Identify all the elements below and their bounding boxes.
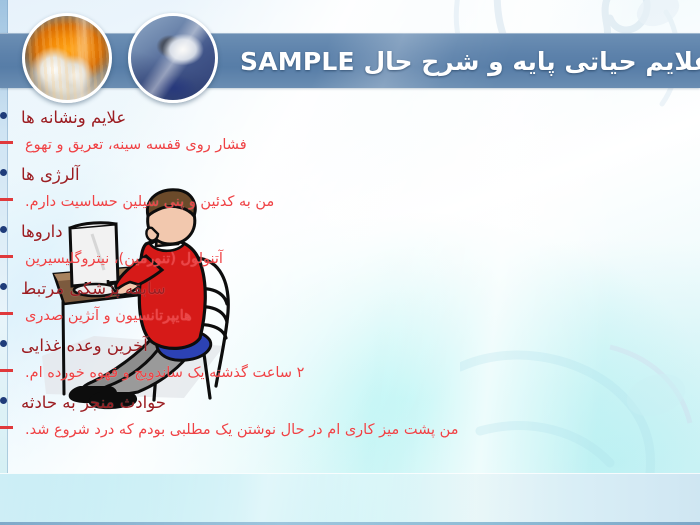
sub-bullet-label: من پشت میز کاری ام در حال نوشتن یک مطلبی… (25, 422, 459, 439)
bullet-dot-icon (0, 397, 7, 404)
page-title: علایم حیاتی پایه و شرح حال SAMPLE (240, 36, 682, 86)
bullet-label: آخرین وعده غذایی (21, 336, 148, 355)
sub-bullet-label: فشار روی قفسه سینه، تعریق و تهوع (25, 137, 247, 154)
list-item: آخرین وعده غذایی (0, 336, 692, 365)
bullet-group: آلرژی ها من به کدئین و پنی سیلین حساسیت … (0, 165, 692, 221)
list-item: سابقه پزشکی مرتبط (0, 279, 692, 308)
sub-list-item: ۲ ساعت گذشته یک ساندویچ و قهوه خورده ام. (0, 365, 692, 392)
dash-icon (0, 369, 13, 372)
bullet-label: داروها (21, 222, 63, 241)
sub-list-item: آتنولول (تنورمین)، نیتروگلیسیرین (0, 251, 692, 278)
sub-list-item: من پشت میز کاری ام در حال نوشتن یک مطلبی… (0, 422, 692, 449)
list-item: داروها (0, 222, 692, 251)
doctor-photo (128, 13, 218, 103)
bullet-group: علایم ونشانه ها فشار روی قفسه سینه، تعری… (0, 108, 692, 164)
sub-bullet-label: هایپرتانسیون و آنژین صدری (25, 308, 192, 325)
sub-bullet-label: ۲ ساعت گذشته یک ساندویچ و قهوه خورده ام. (25, 365, 304, 382)
bullet-dot-icon (0, 340, 7, 347)
list-item: حوادث منجر به حادثه (0, 393, 692, 422)
sub-list-item: من به کدئین و پنی سیلین حساسیت دارم. (0, 194, 692, 221)
dash-icon (0, 426, 13, 429)
dash-icon (0, 255, 13, 258)
list-item: آلرژی ها (0, 165, 692, 194)
dash-icon (0, 198, 13, 201)
dash-icon (0, 141, 13, 144)
bullet-label: آلرژی ها (21, 165, 80, 184)
bullet-group: داروها آتنولول (تنورمین)، نیتروگلیسیرین (0, 222, 692, 278)
list-item: علایم ونشانه ها (0, 108, 692, 137)
bullet-group: حوادث منجر به حادثه من پشت میز کاری ام د… (0, 393, 692, 449)
bullet-dot-icon (0, 169, 7, 176)
sub-list-item: فشار روی قفسه سینه، تعریق و تهوع (0, 137, 692, 164)
bullet-label: حوادث منجر به حادثه (21, 393, 166, 412)
bullet-group: آخرین وعده غذایی ۲ ساعت گذشته یک ساندویچ… (0, 336, 692, 392)
bullet-label: سابقه پزشکی مرتبط (21, 279, 166, 298)
bullet-dot-icon (0, 226, 7, 233)
sub-bullet-label: من به کدئین و پنی سیلین حساسیت دارم. (25, 194, 274, 211)
dash-icon (0, 312, 13, 315)
bullet-label: علایم ونشانه ها (21, 108, 126, 127)
slide: علایم حیاتی پایه و شرح حال SAMPLE (0, 0, 700, 525)
sub-list-item: هایپرتانسیون و آنژین صدری (0, 308, 692, 335)
sub-bullet-label: آتنولول (تنورمین)، نیتروگلیسیرین (25, 251, 223, 268)
bullet-group: سابقه پزشکی مرتبط هایپرتانسیون و آنژین ص… (0, 279, 692, 335)
bullet-dot-icon (0, 283, 7, 290)
pills-photo (22, 13, 112, 103)
pills-photo-texture (25, 16, 109, 100)
doctor-photo-texture (131, 16, 215, 100)
bullet-list: علایم ونشانه ها فشار روی قفسه سینه، تعری… (0, 108, 700, 450)
bullet-dot-icon (0, 112, 7, 119)
footer-band (0, 473, 700, 525)
